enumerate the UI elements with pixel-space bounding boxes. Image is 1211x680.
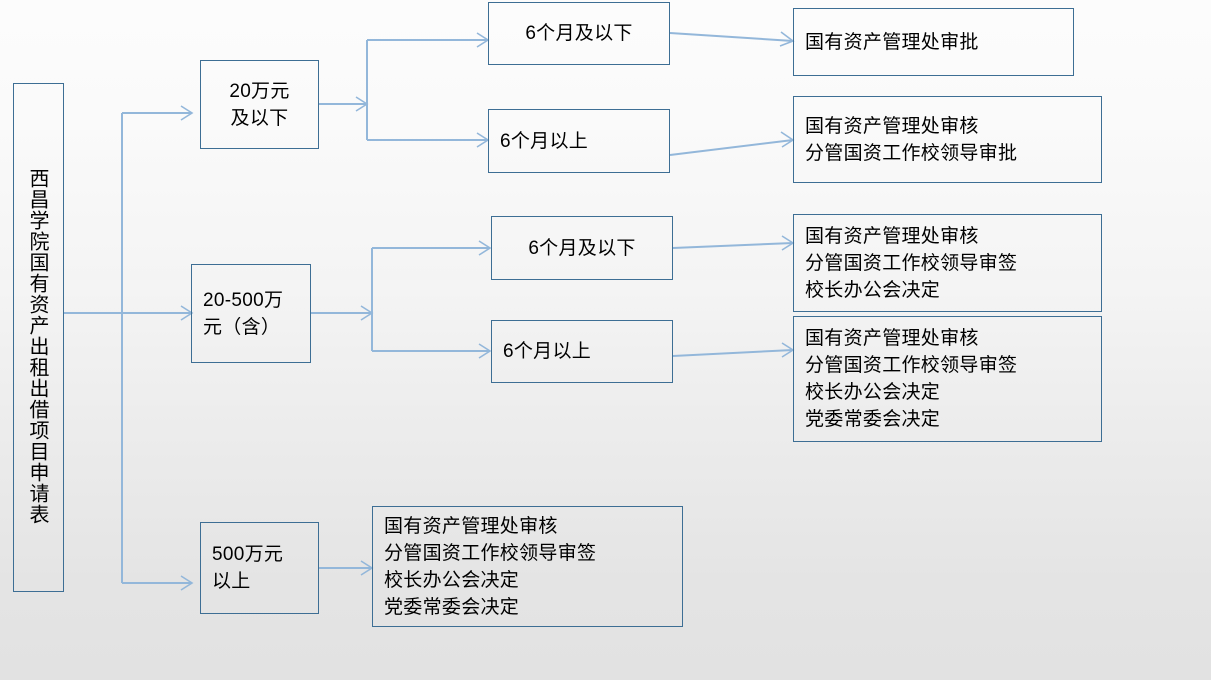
arrow-term-small-long xyxy=(477,133,488,147)
connector-term-small-long-to-approval-2 xyxy=(670,140,793,155)
arrow-amount-small xyxy=(181,106,192,120)
arrow-term-small-short xyxy=(477,33,488,47)
arrow-approval-4 xyxy=(782,343,793,357)
flowchart-canvas: 西昌学院国有资产出租出借项目申请表 20万元 及以下 20-500万 元（含） … xyxy=(0,0,1211,680)
node-term-small-long[interactable]: 6个月以上 xyxy=(488,109,670,173)
node-approval-1[interactable]: 国有资产管理处审批 xyxy=(793,8,1074,76)
node-approval-4[interactable]: 国有资产管理处审核 分管国资工作校领导审签 校长办公会决定 党委常委会决定 xyxy=(793,316,1102,442)
node-term-medium-long[interactable]: 6个月以上 xyxy=(491,320,673,383)
arrow-approval-2 xyxy=(781,132,793,147)
arrow-approval-5 xyxy=(361,561,372,575)
node-application-form[interactable]: 西昌学院国有资产出租出借项目申请表 xyxy=(13,83,64,592)
node-approval-2[interactable]: 国有资产管理处审核 分管国资工作校领导审批 xyxy=(793,96,1102,183)
node-term-medium-short[interactable]: 6个月及以下 xyxy=(491,216,673,280)
arrow-approval-3 xyxy=(782,236,793,250)
node-approval-5[interactable]: 国有资产管理处审核 分管国资工作校领导审签 校长办公会决定 党委常委会决定 xyxy=(372,506,683,627)
node-term-small-short[interactable]: 6个月及以下 xyxy=(488,2,670,65)
arrow-amount-large xyxy=(181,576,192,590)
arrow-term-medium-short xyxy=(479,241,490,255)
node-amount-medium[interactable]: 20-500万 元（含） xyxy=(191,264,311,363)
connector-term-medium-long-to-approval-4 xyxy=(673,350,793,356)
arrow-term-medium-long xyxy=(479,344,490,358)
arrow-medium-split xyxy=(361,306,372,320)
connector-term-small-short-to-approval-1 xyxy=(670,33,793,41)
arrow-small-split xyxy=(356,97,367,111)
node-approval-3[interactable]: 国有资产管理处审核 分管国资工作校领导审签 校长办公会决定 xyxy=(793,214,1102,312)
node-amount-large[interactable]: 500万元 以上 xyxy=(200,522,319,614)
node-amount-small[interactable]: 20万元 及以下 xyxy=(200,60,319,149)
arrow-approval-1 xyxy=(780,32,793,46)
connector-term-medium-short-to-approval-3 xyxy=(673,243,793,248)
